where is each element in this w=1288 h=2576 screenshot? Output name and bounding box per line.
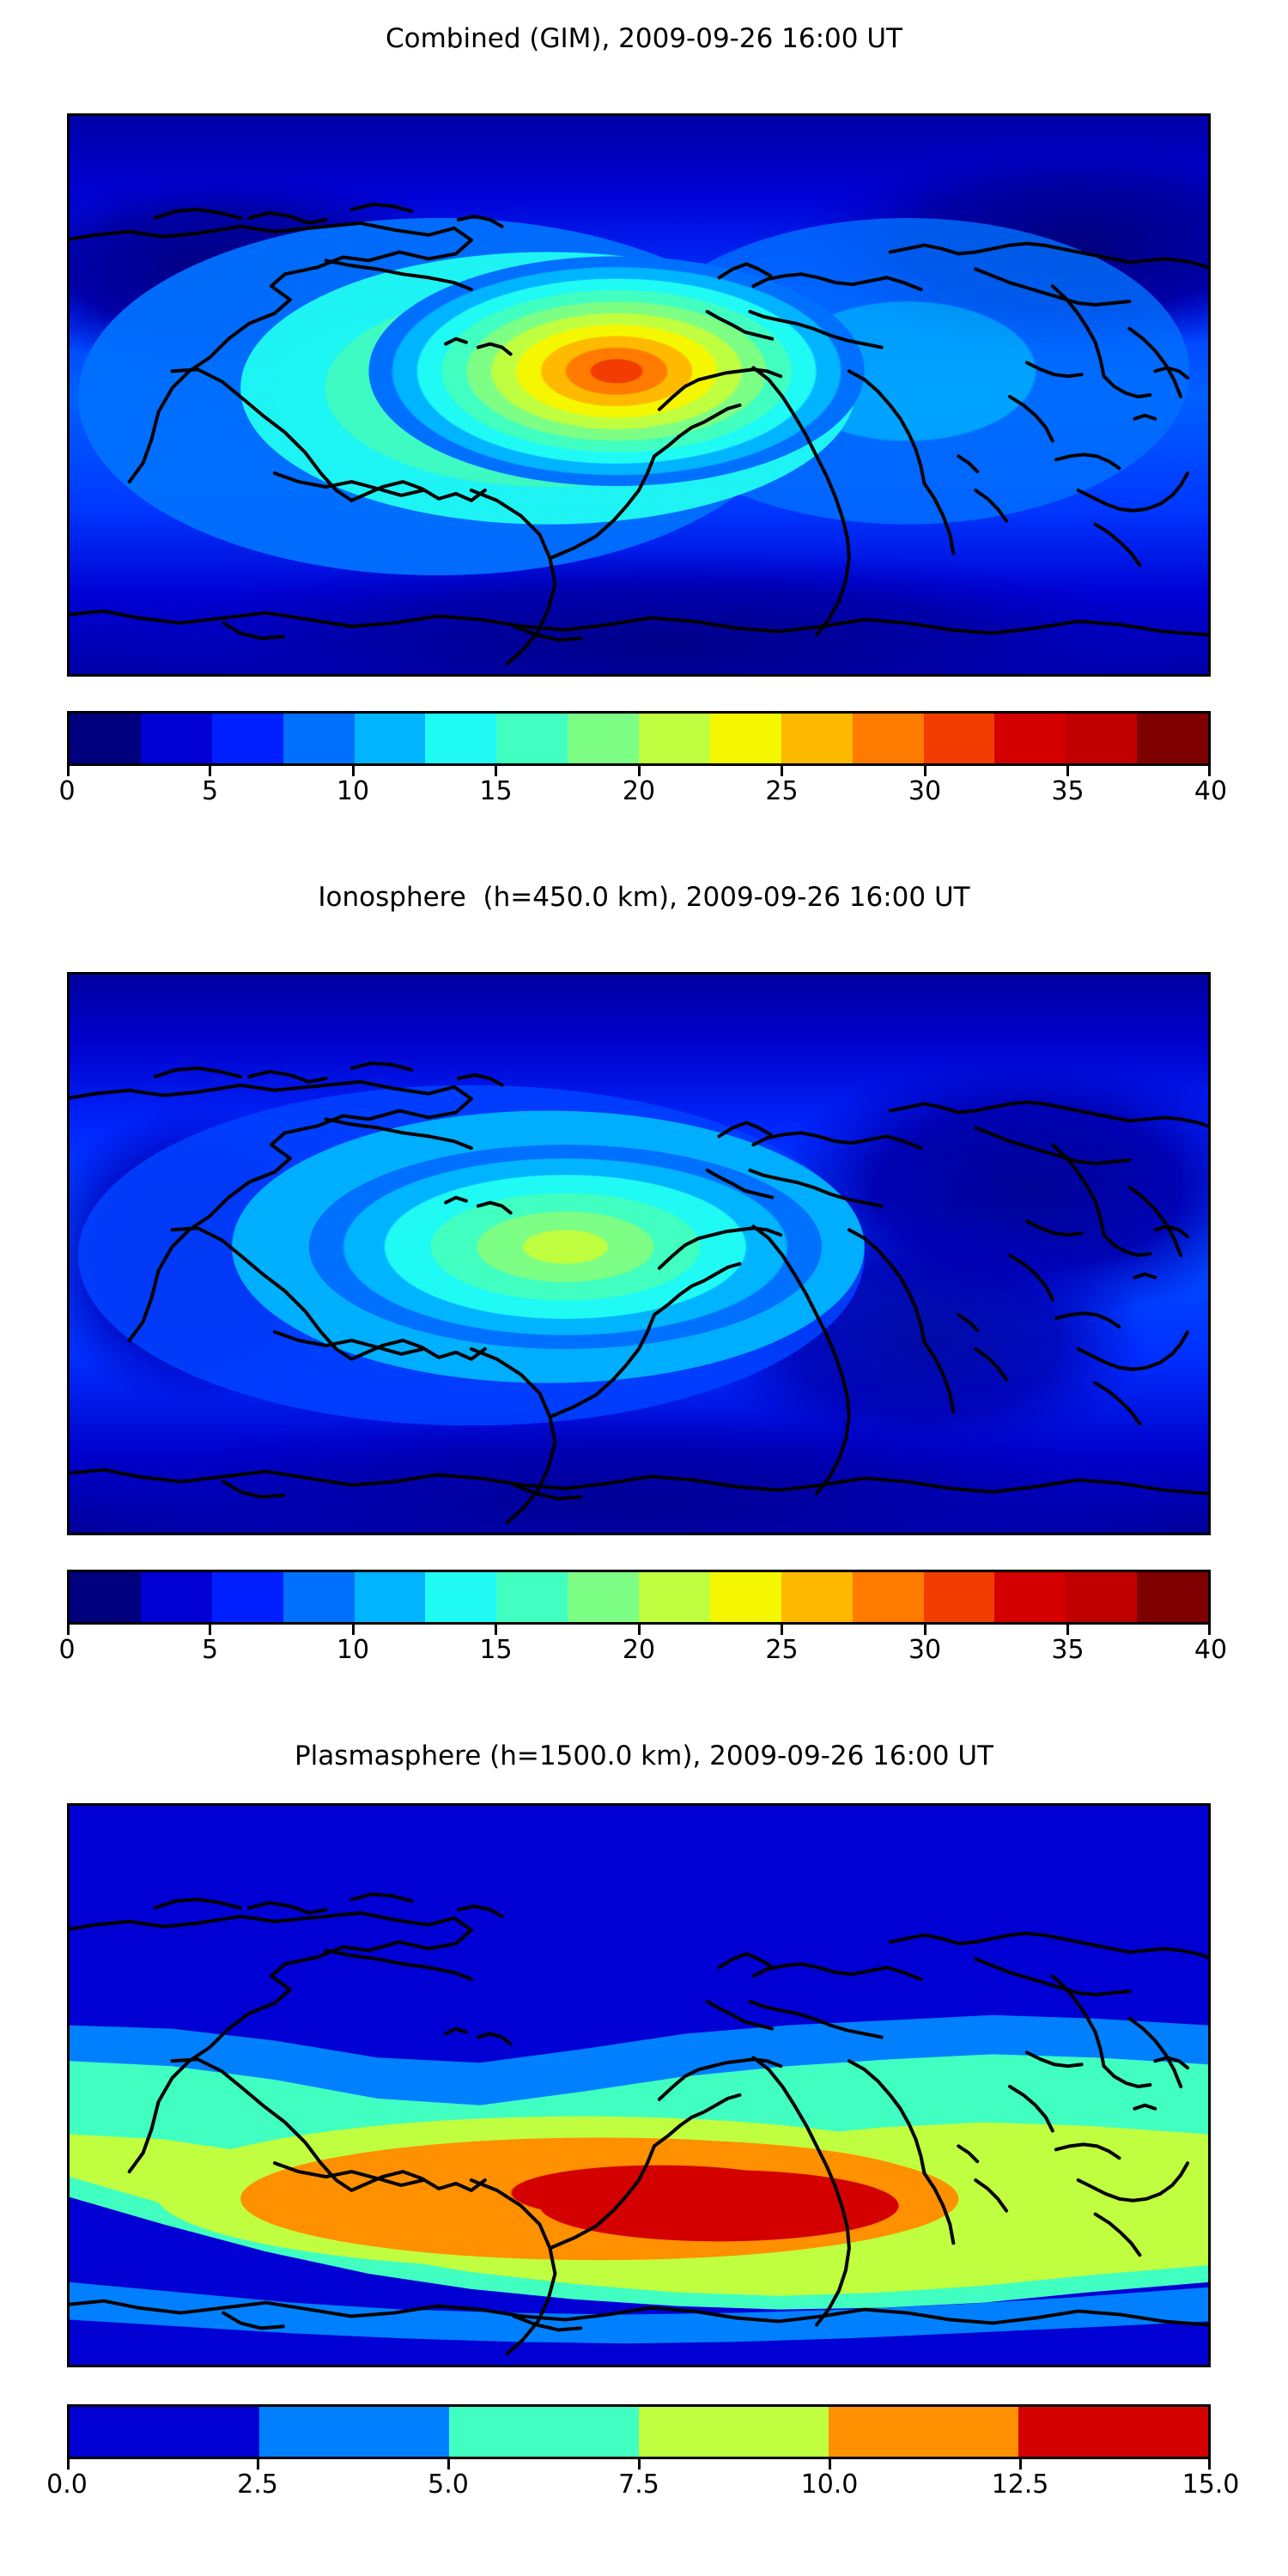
colorbar-tick-label-2: 10 xyxy=(337,1635,369,1665)
colorbar-segment-15 xyxy=(1137,714,1208,763)
colorbar-tick-6 xyxy=(924,1625,927,1635)
colorbar-segment-1 xyxy=(141,1572,212,1622)
colorbar-segment-2 xyxy=(449,2407,639,2457)
colorbar-tick-label-1: 5 xyxy=(202,776,218,806)
colorbar-tick-5 xyxy=(1019,2459,1022,2470)
colorbar-segment-5 xyxy=(425,1572,496,1622)
colorbar-tick-label-0: 0.0 xyxy=(46,2470,88,2500)
colorbar-tick-6 xyxy=(1208,2459,1211,2470)
colorbar-segment-5 xyxy=(425,714,496,763)
colorbar-tick-8 xyxy=(1208,1625,1211,1635)
colorbar-segment-8 xyxy=(639,1572,710,1622)
colorbar-labels-plasmasphere: 0.02.55.07.510.012.515.0 xyxy=(67,2470,1211,2504)
colorbar-tick-8 xyxy=(1208,766,1211,776)
colorbar-tick-label-0: 0 xyxy=(58,1635,75,1665)
colorbar-tick-label-6: 30 xyxy=(908,776,941,806)
colorbar-tick-label-2: 10 xyxy=(337,776,369,806)
colorbar-segment-4 xyxy=(355,714,426,763)
colorbar-segment-7 xyxy=(568,1572,639,1622)
colorbar-ticks-plasmasphere xyxy=(67,2459,1211,2470)
colorbar-tick-label-6: 15.0 xyxy=(1182,2470,1240,2500)
colorbar-tick-0 xyxy=(67,1625,70,1635)
colorbar-tick-3 xyxy=(495,766,497,776)
colorbar-segment-10 xyxy=(781,1572,853,1622)
colorbar-tick-label-3: 15 xyxy=(479,1635,512,1665)
colorbar-segment-10 xyxy=(781,714,853,763)
colorbar-plasmasphere: 0.02.55.07.510.012.515.0 xyxy=(67,2404,1211,2504)
colorbar-tick-label-5: 25 xyxy=(765,776,798,806)
colorbar-tick-6 xyxy=(924,766,927,776)
tec-map-figure: Combined (GIM), 2009-09-26 16:00 UT xyxy=(0,0,1288,2576)
colorbar-labels-combined: 0510152025303540 xyxy=(67,776,1211,811)
colorbar-segment-13 xyxy=(994,714,1066,763)
colorbar-tick-2 xyxy=(352,1625,355,1635)
map-plasmasphere xyxy=(67,1803,1211,2367)
colorbar-tick-5 xyxy=(781,1625,783,1635)
colorbar-tick-label-2: 5.0 xyxy=(428,2470,469,2500)
colorbar-tick-0 xyxy=(67,766,70,776)
colorbar-tick-label-6: 30 xyxy=(908,1635,941,1665)
colorbar-segment-4 xyxy=(355,1572,426,1622)
colorbar-combined: 0510152025303540 xyxy=(67,711,1211,811)
panel-title-combined: Combined (GIM), 2009-09-26 16:00 UT xyxy=(0,26,1288,52)
colorbar-labels-ionosphere: 0510152025303540 xyxy=(67,1635,1211,1669)
colorbar-segment-2 xyxy=(212,714,283,763)
colorbar-segment-0 xyxy=(70,2407,259,2457)
colorbar-tick-4 xyxy=(829,2459,831,2470)
colorbar-ticks-ionosphere xyxy=(67,1625,1211,1635)
colorbar-tick-label-5: 25 xyxy=(765,1635,798,1665)
colorbar-tick-5 xyxy=(781,766,783,776)
colorbar-segment-0 xyxy=(70,714,141,763)
colorbar-gradient-combined xyxy=(67,711,1211,766)
panel-title-ionosphere: Ionosphere (h=450.0 km), 2009-09-26 16:0… xyxy=(0,884,1288,911)
colorbar-tick-4 xyxy=(638,766,641,776)
colorbar-segment-9 xyxy=(710,714,781,763)
colorbar-tick-label-4: 10.0 xyxy=(801,2470,859,2500)
colorbar-segment-4 xyxy=(829,2407,1018,2457)
colorbar-tick-1 xyxy=(209,1625,211,1635)
colorbar-gradient-ionosphere xyxy=(67,1570,1211,1625)
colorbar-tick-label-7: 35 xyxy=(1051,776,1084,806)
colorbar-tick-3 xyxy=(495,1625,497,1635)
colorbar-segment-12 xyxy=(924,1572,995,1622)
colorbar-tick-3 xyxy=(638,2459,641,2470)
colorbar-tick-label-4: 20 xyxy=(623,1635,655,1665)
colorbar-segment-3 xyxy=(283,1572,355,1622)
colorbar-ionosphere: 0510152025303540 xyxy=(67,1570,1211,1669)
colorbar-segment-6 xyxy=(496,714,568,763)
colorbar-segment-8 xyxy=(639,714,710,763)
colorbar-segment-9 xyxy=(710,1572,781,1622)
colorbar-tick-label-1: 5 xyxy=(202,1635,218,1665)
colorbar-tick-label-1: 2.5 xyxy=(237,2470,278,2500)
colorbar-tick-label-7: 35 xyxy=(1051,1635,1084,1665)
map-canvas-combined xyxy=(70,116,1208,674)
colorbar-tick-label-4: 20 xyxy=(623,776,655,806)
colorbar-ticks-combined xyxy=(67,766,1211,776)
colorbar-segment-14 xyxy=(1066,1572,1137,1622)
colorbar-tick-1 xyxy=(209,766,211,776)
colorbar-segment-1 xyxy=(141,714,212,763)
colorbar-tick-label-3: 7.5 xyxy=(618,2470,659,2500)
colorbar-segment-0 xyxy=(70,1572,141,1622)
colorbar-segment-3 xyxy=(283,714,355,763)
colorbar-gradient-plasmasphere xyxy=(67,2404,1211,2459)
map-combined-gim xyxy=(67,113,1211,677)
colorbar-tick-1 xyxy=(257,2459,259,2470)
colorbar-tick-4 xyxy=(638,1625,641,1635)
colorbar-segment-7 xyxy=(568,714,639,763)
colorbar-tick-label-5: 12.5 xyxy=(992,2470,1049,2500)
map-canvas-plasmasphere xyxy=(70,1806,1208,2365)
colorbar-segment-11 xyxy=(853,714,924,763)
colorbar-tick-label-8: 40 xyxy=(1194,776,1227,806)
colorbar-segment-12 xyxy=(924,714,995,763)
colorbar-tick-0 xyxy=(67,2459,70,2470)
colorbar-tick-7 xyxy=(1066,1625,1069,1635)
colorbar-segment-3 xyxy=(639,2407,829,2457)
colorbar-tick-7 xyxy=(1066,766,1069,776)
panel-title-plasmasphere: Plasmasphere (h=1500.0 km), 2009-09-26 1… xyxy=(0,1743,1288,1770)
colorbar-segment-2 xyxy=(212,1572,283,1622)
colorbar-segment-15 xyxy=(1137,1572,1208,1622)
colorbar-tick-label-0: 0 xyxy=(58,776,75,806)
colorbar-segment-11 xyxy=(853,1572,924,1622)
colorbar-segment-1 xyxy=(259,2407,449,2457)
colorbar-tick-label-3: 15 xyxy=(479,776,512,806)
colorbar-segment-5 xyxy=(1018,2407,1208,2457)
map-ionosphere xyxy=(67,972,1211,1535)
colorbar-segment-6 xyxy=(496,1572,568,1622)
colorbar-tick-2 xyxy=(447,2459,450,2470)
colorbar-tick-label-8: 40 xyxy=(1194,1635,1227,1665)
map-canvas-ionosphere xyxy=(70,975,1208,1533)
colorbar-segment-13 xyxy=(994,1572,1066,1622)
colorbar-segment-14 xyxy=(1066,714,1137,763)
colorbar-tick-2 xyxy=(352,766,355,776)
